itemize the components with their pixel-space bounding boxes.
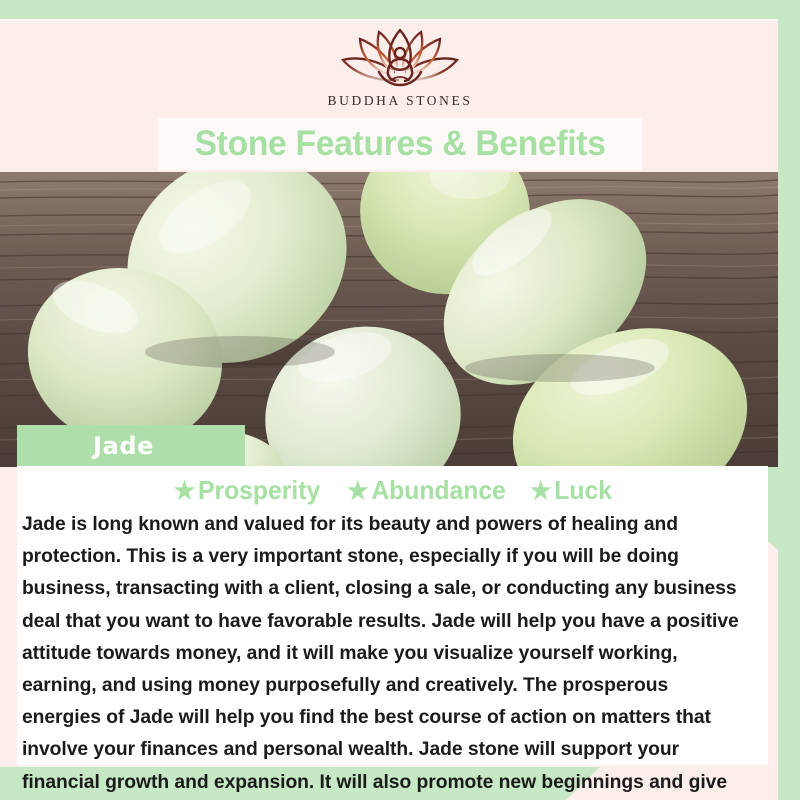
page-title: Stone Features & Benefits bbox=[194, 124, 605, 164]
stone-photo bbox=[0, 172, 778, 467]
benefits-row: ★Prosperity ★Abundance ★Luck bbox=[17, 466, 768, 506]
section-title-bar: Stone Features & Benefits bbox=[158, 118, 642, 170]
stone-description-text: Jade is long known and valued for its be… bbox=[18, 508, 757, 800]
frame-right-band bbox=[778, 0, 800, 800]
benefit-label: Abundance bbox=[371, 475, 505, 505]
benefit-label: Prosperity bbox=[198, 475, 320, 505]
stone-photo-illustration bbox=[0, 172, 778, 467]
brand-logo-block: BUDDHA STONES bbox=[0, 24, 800, 109]
benefit-item-abundance: ★Abundance bbox=[347, 475, 506, 506]
stone-description-panel: ★Prosperity ★Abundance ★Luck Jade is lon… bbox=[17, 466, 768, 765]
star-icon: ★ bbox=[174, 477, 195, 505]
benefit-item-prosperity: ★Prosperity bbox=[174, 475, 320, 506]
stone-info-card: BUDDHA STONES Stone Features & Benefits bbox=[0, 0, 800, 800]
lotus-meditation-icon bbox=[337, 24, 463, 90]
stone-name: Jade bbox=[93, 432, 154, 460]
benefit-label: Luck bbox=[555, 475, 613, 505]
benefit-item-luck: ★Luck bbox=[531, 475, 613, 506]
stone-name-chip: Jade bbox=[17, 425, 245, 466]
frame-top-band bbox=[0, 0, 800, 19]
star-icon: ★ bbox=[347, 477, 368, 505]
brand-name: BUDDHA STONES bbox=[0, 93, 800, 109]
star-icon: ★ bbox=[531, 477, 552, 505]
